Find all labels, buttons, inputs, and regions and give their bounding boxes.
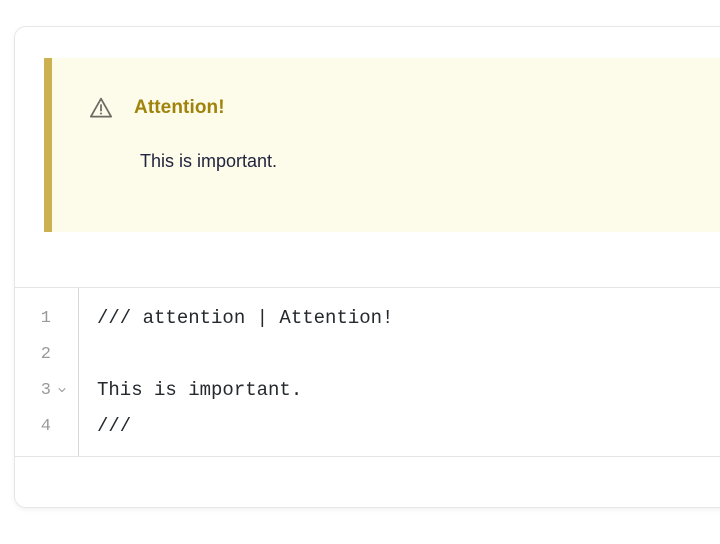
admonition-title: Attention!	[134, 97, 225, 119]
gutter-row: 2	[15, 336, 78, 372]
code-line[interactable]	[97, 336, 720, 372]
example-card: Attention! This is important. 1 2 3	[14, 26, 720, 508]
fold-slot[interactable]	[54, 385, 70, 395]
admonition-attention: Attention! This is important.	[44, 58, 720, 232]
gutter-row: 3	[15, 372, 78, 408]
code-line-text: /// attention | Attention!	[97, 309, 393, 328]
admonition-title-row: Attention!	[52, 58, 720, 122]
code-editor[interactable]: 1 2 3 4 /// attention	[15, 288, 720, 457]
line-number: 4	[41, 418, 51, 435]
gutter-row: 1	[15, 300, 78, 336]
code-line-text: ///	[97, 417, 131, 436]
code-lines[interactable]: /// attention | Attention! This is impor…	[79, 288, 720, 456]
line-number: 3	[41, 382, 51, 399]
code-line[interactable]: This is important.	[97, 372, 720, 408]
gutter-row: 4	[15, 408, 78, 444]
warning-triangle-icon	[88, 95, 114, 121]
chevron-down-icon	[57, 385, 67, 395]
code-line[interactable]: ///	[97, 408, 720, 444]
code-line[interactable]: /// attention | Attention!	[97, 300, 720, 336]
admonition-body: This is important.	[52, 122, 720, 174]
line-number-gutter: 1 2 3 4	[15, 288, 79, 456]
card-footer	[15, 457, 720, 507]
preview-pane: Attention! This is important.	[15, 27, 720, 288]
line-number: 2	[41, 346, 51, 363]
code-line-text: This is important.	[97, 381, 302, 400]
line-number: 1	[41, 310, 51, 327]
